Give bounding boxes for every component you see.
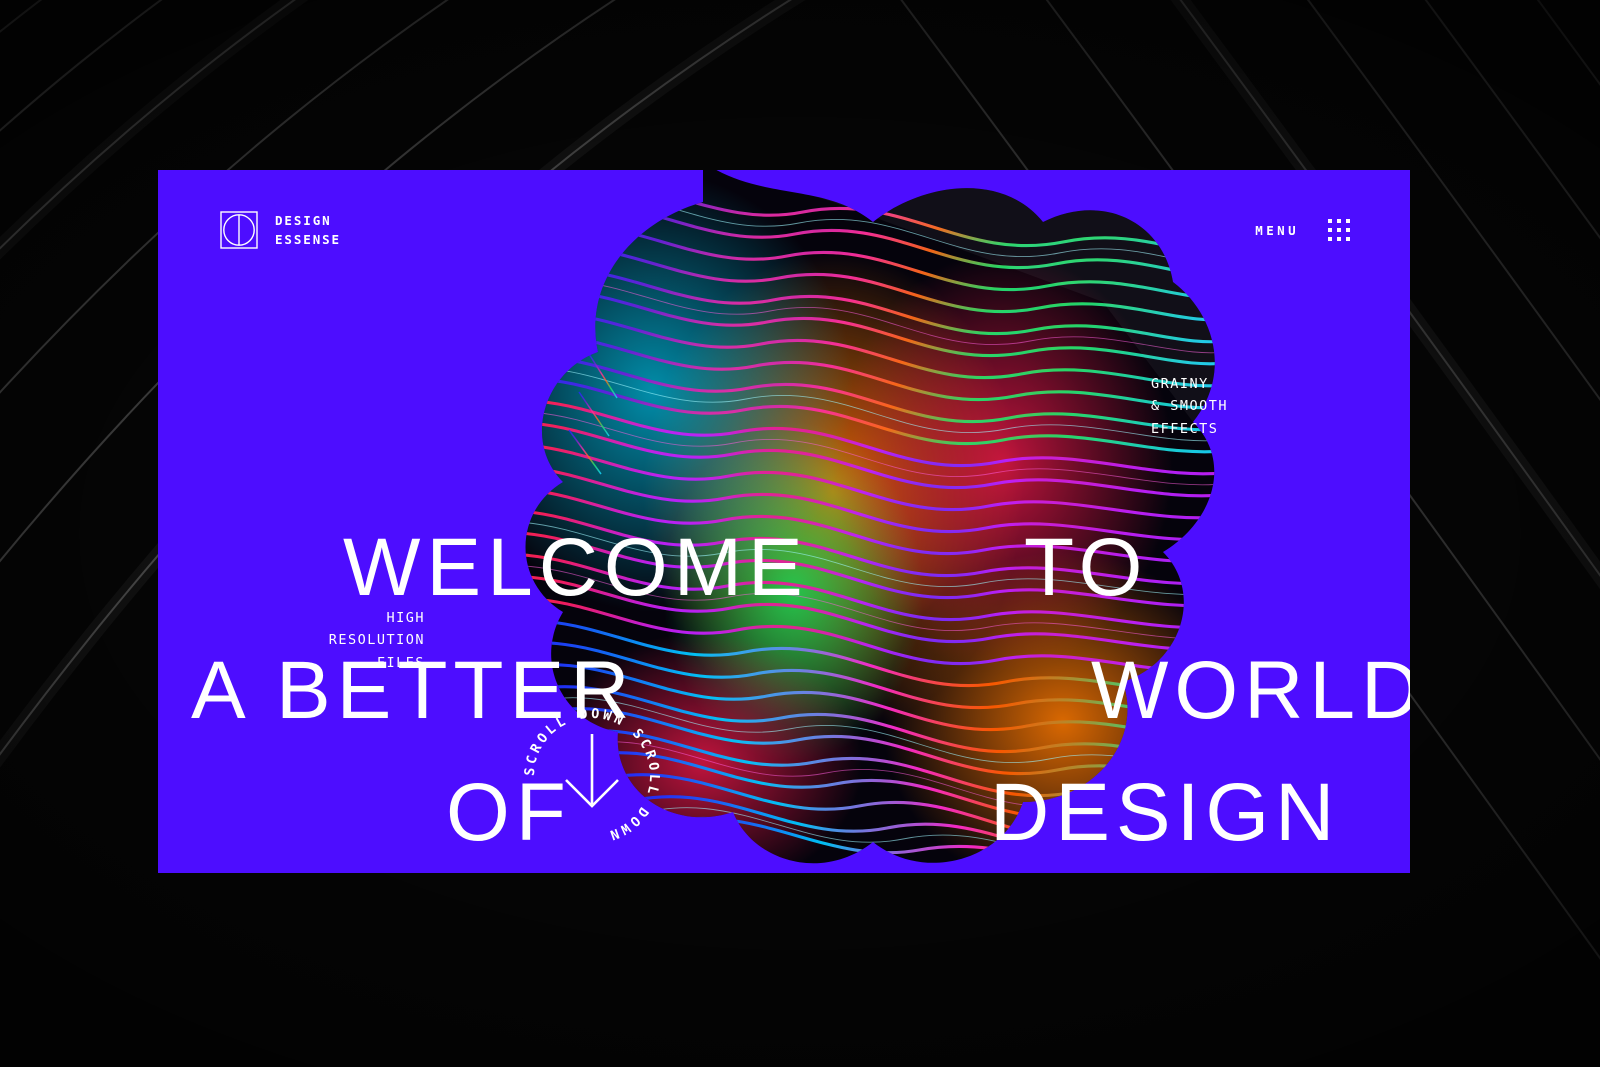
grid-dots-icon[interactable]	[1328, 219, 1350, 241]
menu-toggle[interactable]: MENU	[1255, 219, 1350, 241]
headline-word-design: DESIGN	[990, 772, 1340, 854]
caption-high-resolution-files: HIGH RESOLUTION FILES	[270, 607, 425, 674]
brand-name: DESIGN ESSENSE	[275, 211, 341, 250]
brand-logo[interactable]: DESIGN ESSENSE	[220, 211, 341, 250]
arrow-down-icon[interactable]	[566, 734, 618, 806]
menu-label: MENU	[1255, 223, 1299, 238]
circle-in-square-logo-icon	[220, 211, 258, 249]
headline-word-to: TO	[1024, 527, 1148, 609]
site-header: DESIGN ESSENSE MENU	[158, 170, 1410, 290]
hero-card: DESIGN ESSENSE MENU WELCOME TO A BETTER …	[158, 170, 1410, 873]
caption-grainy-smooth-effects: GRAINY & SMOOTH EFFECTS	[1151, 373, 1228, 440]
headline-word-world: WORLD	[1091, 650, 1410, 732]
headline-word-welcome: WELCOME	[343, 527, 809, 609]
scroll-down-badge[interactable]: SCROLL DOWN SCROLL DOWN	[516, 700, 668, 852]
